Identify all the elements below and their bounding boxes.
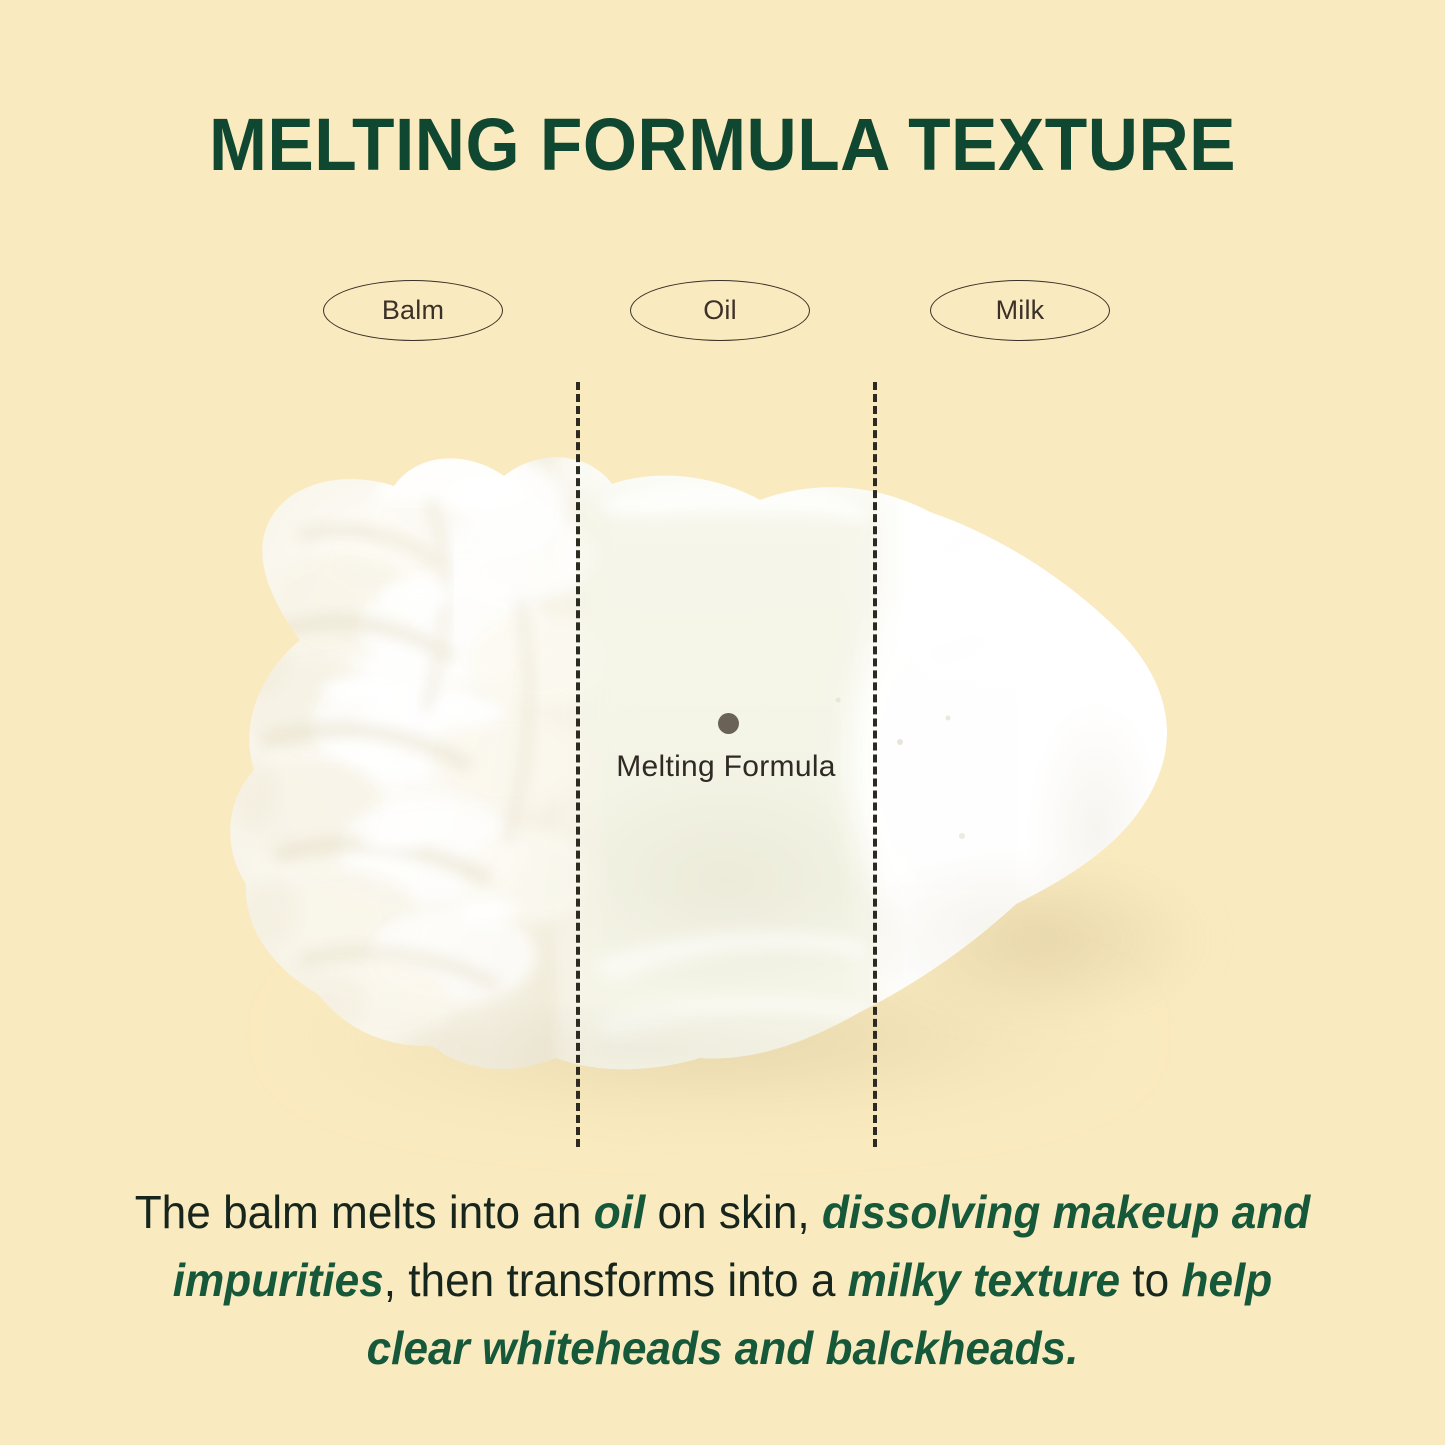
caption-plain: to — [1120, 1254, 1181, 1306]
stage-pill-milk: Milk — [930, 280, 1110, 341]
page-title: MELTING FORMULA TEXTURE — [43, 108, 1401, 182]
stage-pill-balm: Balm — [323, 280, 503, 341]
infographic-page: MELTING FORMULA TEXTURE — [0, 0, 1445, 1445]
caption-emphasis: milky texture — [848, 1254, 1120, 1306]
stage-label-oil: Oil — [631, 281, 809, 340]
caption-text: The balm melts into an oil on skin, diss… — [115, 1178, 1329, 1382]
stage-label-milk: Milk — [931, 281, 1109, 340]
stage-pill-oil: Oil — [630, 280, 810, 341]
caption-plain: The balm melts into an — [135, 1186, 594, 1238]
caption-plain: on skin, — [645, 1186, 822, 1238]
stage-label-balm: Balm — [324, 281, 502, 340]
caption-emphasis: oil — [594, 1186, 646, 1238]
melting-formula-dot-icon — [718, 713, 739, 734]
melting-formula-label: Melting Formula — [576, 750, 876, 784]
caption-plain: , then transforms into a — [384, 1254, 848, 1306]
